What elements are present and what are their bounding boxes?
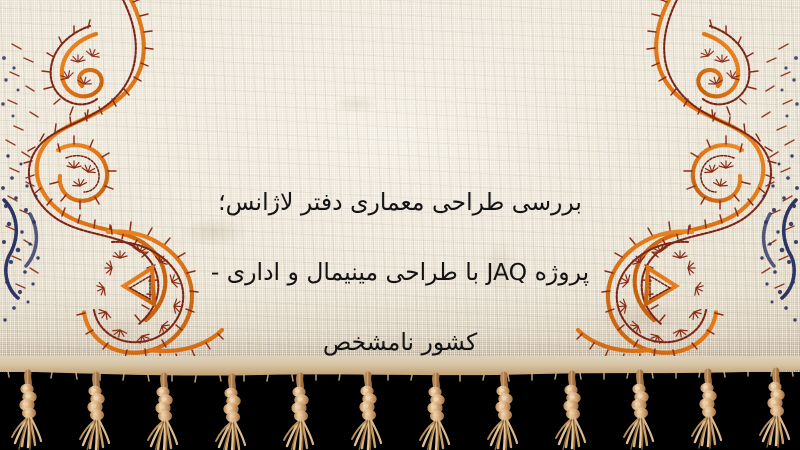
caption-line-2: پروژه JAQ با طراحی مینیمال و اداری -	[110, 255, 690, 290]
caption-line-1: بررسی طراحی معماری دفتر لاژانس؛	[110, 185, 690, 220]
caption-line-3: کشور نامشخص	[110, 325, 690, 360]
caption-block: بررسی طراحی معماری دفتر لاژانس؛ پروژه JA…	[110, 150, 690, 395]
title-card-stage: .chain { fill:none; stroke:url(#og); str…	[0, 0, 800, 450]
